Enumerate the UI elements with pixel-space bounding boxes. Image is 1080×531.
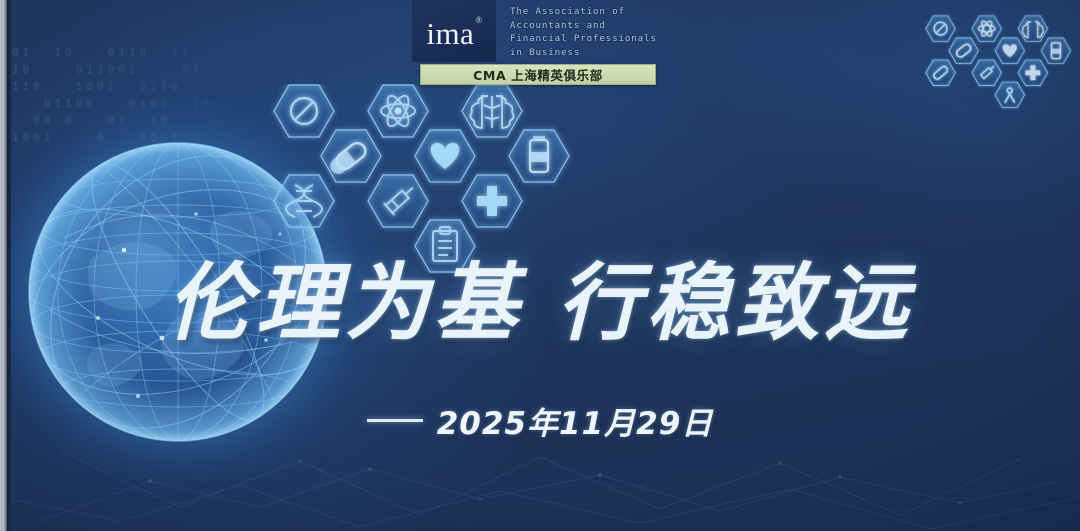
ima-wordmark-text: ima [426,16,474,51]
left-edge-shadow [7,0,11,531]
event-date-row: 2025年11月29日 [0,398,1080,443]
cma-club-banner-text: CMA 上海精英俱乐部 [473,65,603,84]
page-title: 伦理为基 行稳致远 [0,236,1080,357]
ima-logo-mark: ima® [412,0,496,62]
ima-tagline: The Association of Accountants and Finan… [510,0,657,59]
left-edge-strip [0,0,7,531]
registered-trademark-icon: ® [475,15,482,25]
ima-logo-block: ima® The Association of Accountants and … [412,0,657,85]
medical-icon-honeycomb-corner [918,6,1080,118]
ima-wordmark: ima® [426,18,481,49]
presentation-slide: 01 10 0110 11 10 011001 01 110 1001 0110… [0,0,1080,531]
logo-row: ima® The Association of Accountants and … [412,0,657,62]
cma-club-banner: CMA 上海精英俱乐部 [420,64,656,85]
event-date: 2025年11月29日 [437,398,714,443]
date-dash-rule [367,419,423,422]
